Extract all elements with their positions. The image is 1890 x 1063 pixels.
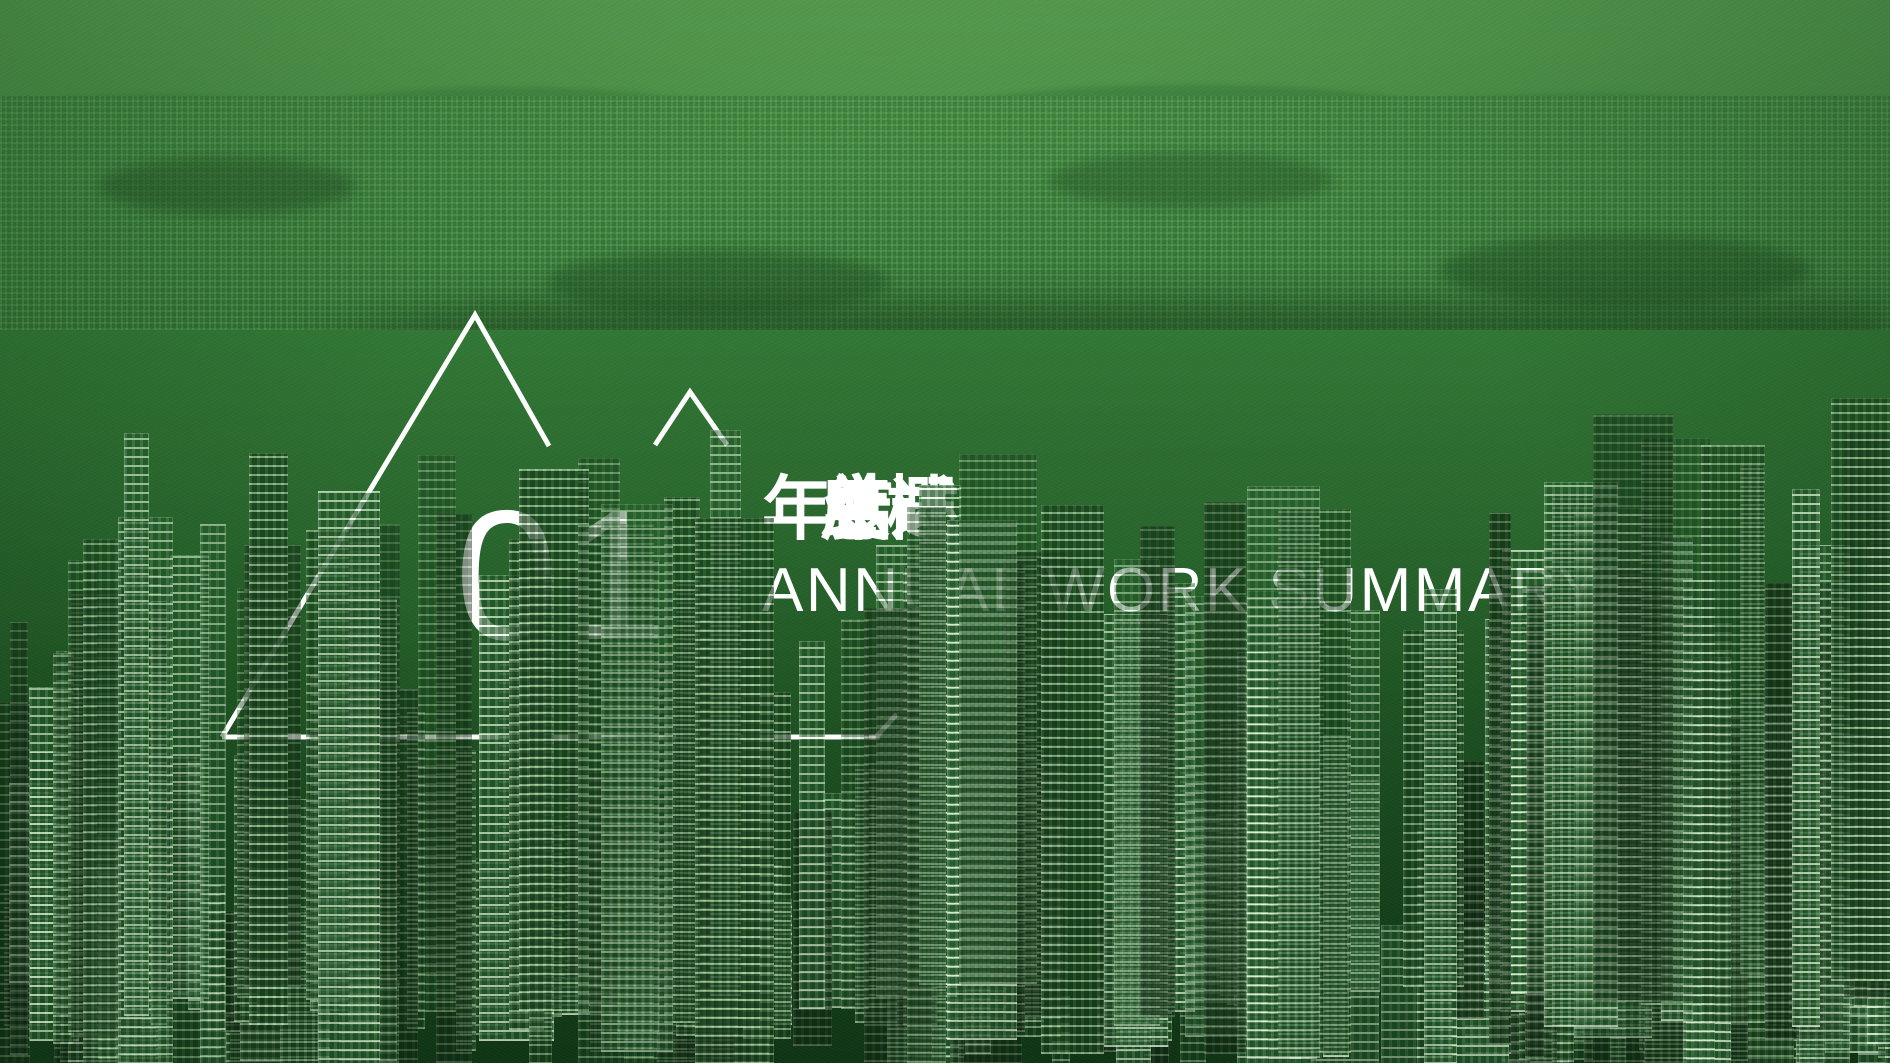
city-tower [1701, 445, 1766, 1022]
city-tower [200, 524, 227, 1063]
city-tower [907, 507, 946, 1063]
city-tower [1831, 398, 1890, 981]
city-tower [695, 518, 774, 1063]
city-tower [1489, 513, 1511, 1045]
city-tower [959, 454, 1037, 984]
city-tower [418, 455, 456, 1013]
city-tower [1041, 505, 1104, 1054]
city-tower [1204, 502, 1247, 1054]
cn-char-4: 结 [824, 470, 888, 548]
city-tower [799, 641, 825, 1009]
city-tower [318, 491, 380, 1063]
city-tower [1247, 486, 1320, 1059]
city-tower [1347, 610, 1380, 992]
city-tower [1593, 414, 1673, 1002]
city-tower [124, 433, 149, 1016]
slide-canvas: 01 年度总结概述 ANNUAL WORK SUMMARY [0, 0, 1890, 1063]
city-tower [1792, 489, 1820, 1027]
city-tower [83, 539, 120, 1063]
city-tower [249, 453, 289, 1025]
background-photo [0, 0, 1890, 1063]
city-tower [10, 622, 28, 1055]
city-tower [1424, 589, 1457, 1063]
city-tower [601, 504, 673, 1052]
city-tower [1140, 526, 1175, 1017]
